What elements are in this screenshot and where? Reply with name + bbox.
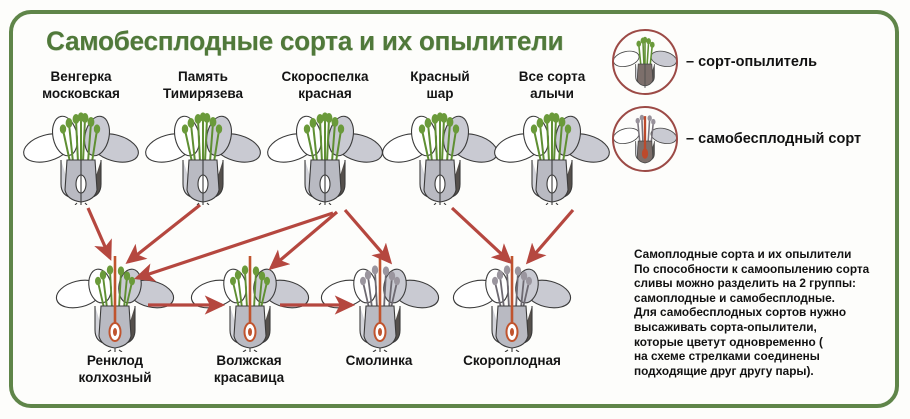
flower-pollinator-1 (143, 110, 263, 205)
bottom-label-0: Ренклод колхозный (56, 352, 174, 386)
top-label-1: Память Тимирязева (144, 68, 262, 102)
top-label-1-line2: Тимирязева (144, 85, 262, 102)
bottom-label-1-line2: красавица (190, 369, 308, 386)
top-label-2-line1: Скороспелка (266, 68, 384, 85)
arrow-0 (88, 208, 110, 258)
legend-item-self-sterile: – самобесплодный сорт (612, 106, 861, 172)
info-line-5: высаживать сорта-опылители, (634, 320, 902, 335)
info-line-8: подходящие друг другу пары). (634, 364, 902, 379)
top-label-4-line1: Все сорта (498, 68, 606, 85)
info-line-7: на схеме стрелками соединены (634, 349, 902, 364)
info-paragraph: Самоплодные сорта и их опылители По спос… (634, 247, 902, 378)
flower-pollinator-3 (380, 110, 500, 205)
info-line-4: Для самобесплодных сортов нужно (634, 305, 902, 320)
flower-self-sterile-1 (190, 252, 310, 347)
top-label-3-line2: шар (388, 85, 492, 102)
bottom-label-3: Скороплодная (444, 352, 580, 369)
info-line-2: сливы можно разделить на 2 группы: (634, 276, 902, 291)
flower-pollinator-2 (265, 110, 385, 205)
info-line-1: По способности к самоопылению сорта (634, 262, 902, 277)
legend-text-0: сорт-опылитель (698, 54, 817, 70)
legend-label-pollinator: – сорт-опылитель (686, 54, 817, 70)
flower-self-sterile-0 (55, 252, 175, 347)
flower-red-pistil-icon (612, 106, 678, 172)
bottom-label-0-line1: Ренклод (56, 352, 174, 369)
top-label-0-line2: московская (22, 85, 140, 102)
bottom-label-3-line1: Скороплодная (444, 352, 580, 369)
bottom-label-2: Смолинка (320, 352, 438, 369)
page-title: Самобесплодные сорта и их опылители (46, 26, 563, 57)
top-label-2: Скороспелка красная (266, 68, 384, 102)
poster-root: Самобесплодные сорта и их опылители Венг… (0, 0, 910, 419)
top-label-0-line1: Венгерка (22, 68, 140, 85)
flower-pollinator-4 (492, 110, 612, 205)
bottom-label-0-line2: колхозный (56, 369, 174, 386)
flower-self-sterile-2 (320, 252, 440, 347)
legend-item-pollinator: – сорт-опылитель (612, 29, 817, 95)
bottom-label-2-line1: Смолинка (320, 352, 438, 369)
legend-dash-0: – (686, 54, 694, 70)
info-line-0: Самоплодные сорта и их опылители (634, 247, 902, 262)
bottom-label-1-line1: Волжская (190, 352, 308, 369)
legend-dash-1: – (686, 131, 694, 147)
top-label-1-line1: Память (144, 68, 262, 85)
top-label-4: Все сорта алычи (498, 68, 606, 102)
legend-text-1: самобесплодный сорт (698, 131, 861, 147)
bottom-label-1: Волжская красавица (190, 352, 308, 386)
top-label-2-line2: красная (266, 85, 384, 102)
flower-self-sterile-3 (452, 252, 572, 347)
top-label-0: Венгерка московская (22, 68, 140, 102)
top-label-4-line2: алычи (498, 85, 606, 102)
info-line-3: самоплодные и самобесплодные. (634, 291, 902, 306)
flower-green-stamens-icon (612, 29, 678, 95)
top-label-3-line1: Красный (388, 68, 492, 85)
legend-label-self-sterile: – самобесплодный сорт (686, 131, 861, 147)
top-label-3: Красный шар (388, 68, 492, 102)
info-line-6: которые цветут одновременно ( (634, 335, 902, 350)
flower-pollinator-0 (21, 110, 141, 205)
